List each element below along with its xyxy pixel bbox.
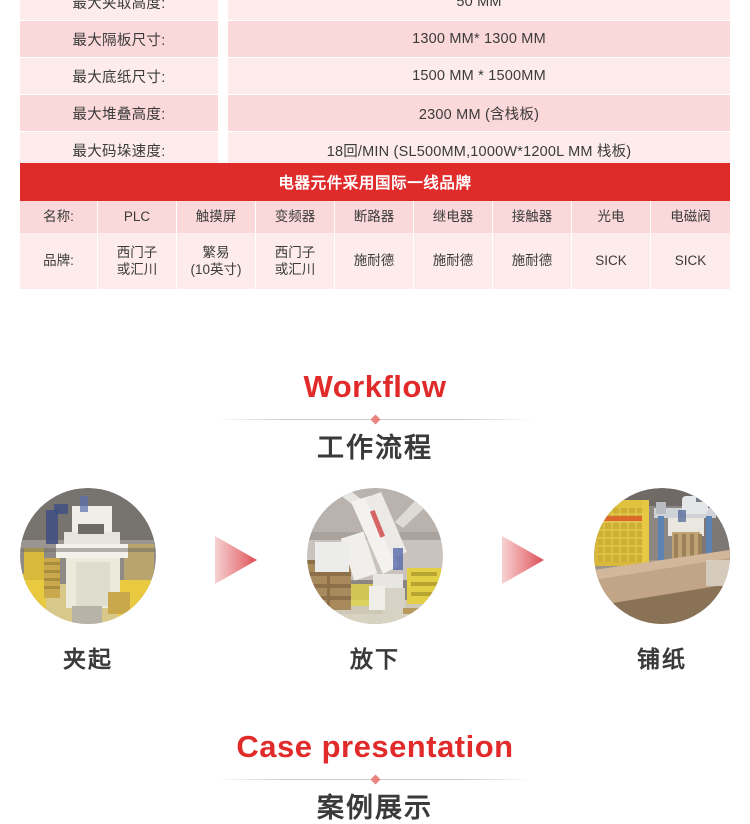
component-name-cell: 断路器 (335, 201, 414, 233)
workflow-step-label: 放下 (307, 640, 443, 674)
heading-chinese: 工作流程 (0, 433, 750, 464)
arrow-right-icon (213, 534, 259, 586)
spec-value: 2300 MM (含栈板) (228, 95, 730, 131)
paper-laying-machine-photo (594, 488, 730, 624)
workflow-section-heading: Workflow 工作流程 (0, 370, 750, 464)
component-brand-cell: 品牌: (20, 233, 98, 289)
spec-value: 1500 MM * 1500MM (228, 58, 730, 94)
heading-english: Case presentation (0, 730, 750, 764)
component-brand-table: 电器元件采用国际一线品牌 名称: PLC 触摸屏 变频器 断路器 继电器 接触器… (20, 163, 730, 289)
spec-label: 最大底纸尺寸: (20, 58, 218, 94)
workflow-step-1: 夹起 (20, 488, 156, 674)
spec-label: 最大夹取高度: (20, 0, 218, 20)
arrow-right-icon (500, 534, 546, 586)
robot-arm-placing-photo (307, 488, 443, 624)
workflow-step-3: 铺纸 (594, 488, 730, 674)
component-brand-cell: 繁易(10英寸) (177, 233, 256, 289)
table-row-names: 名称: PLC 触摸屏 变频器 断路器 继电器 接触器 光电 电磁阀 (20, 201, 730, 233)
component-brand-cell: 施耐德 (493, 233, 572, 289)
component-name-cell: 变频器 (256, 201, 335, 233)
spec-label: 最大堆叠高度: (20, 95, 218, 131)
component-name-cell: 接触器 (493, 201, 572, 233)
component-name-cell: 触摸屏 (177, 201, 256, 233)
workflow-step-label: 铺纸 (594, 640, 730, 674)
column-divider (218, 0, 228, 20)
component-name-cell: 光电 (572, 201, 651, 233)
diamond-icon (370, 415, 380, 425)
workflow-step-2: 放下 (307, 488, 443, 674)
component-name-cell: 电磁阀 (651, 201, 730, 233)
table-row: 最大夹取高度: 50 MM (20, 0, 730, 20)
component-table-grid: 名称: PLC 触摸屏 变频器 断路器 继电器 接触器 光电 电磁阀 品牌: 西… (20, 201, 730, 289)
heading-divider (217, 413, 533, 427)
component-brand-cell: SICK (651, 233, 730, 289)
table-row: 最大堆叠高度: 2300 MM (含栈板) (20, 95, 730, 131)
spec-value: 50 MM (228, 0, 730, 20)
component-brand-cell: 施耐德 (414, 233, 493, 289)
column-divider (218, 58, 228, 94)
component-brand-cell: 西门子或汇川 (256, 233, 335, 289)
spec-table: 最大夹取高度: 50 MM 最大隔板尺寸: 1300 MM* 1300 MM 最… (20, 0, 730, 168)
column-divider (218, 21, 228, 57)
component-brand-cell: 西门子或汇川 (98, 233, 177, 289)
spec-value: 1300 MM* 1300 MM (228, 21, 730, 57)
case-section-heading: Case presentation 案例展示 (0, 730, 750, 824)
component-name-cell: PLC (98, 201, 177, 233)
column-divider (218, 95, 228, 131)
workflow-steps: 夹起 (0, 488, 750, 678)
table-row-brands: 品牌: 西门子或汇川 繁易(10英寸) 西门子或汇川 施耐德 施耐德 施耐德 S… (20, 233, 730, 289)
workflow-step-label: 夹起 (20, 640, 156, 674)
palletizer-gripper-photo (20, 488, 156, 624)
spec-label: 最大隔板尺寸: (20, 21, 218, 57)
diamond-icon (370, 775, 380, 785)
table-row: 最大底纸尺寸: 1500 MM * 1500MM (20, 58, 730, 94)
component-name-cell: 名称: (20, 201, 98, 233)
heading-chinese: 案例展示 (0, 793, 750, 824)
component-name-cell: 继电器 (414, 201, 493, 233)
component-brand-cell: 施耐德 (335, 233, 414, 289)
component-brand-cell: SICK (572, 233, 651, 289)
heading-english: Workflow (0, 370, 750, 404)
heading-divider (217, 773, 533, 787)
component-table-header: 电器元件采用国际一线品牌 (20, 163, 730, 201)
table-row: 最大隔板尺寸: 1300 MM* 1300 MM (20, 21, 730, 57)
